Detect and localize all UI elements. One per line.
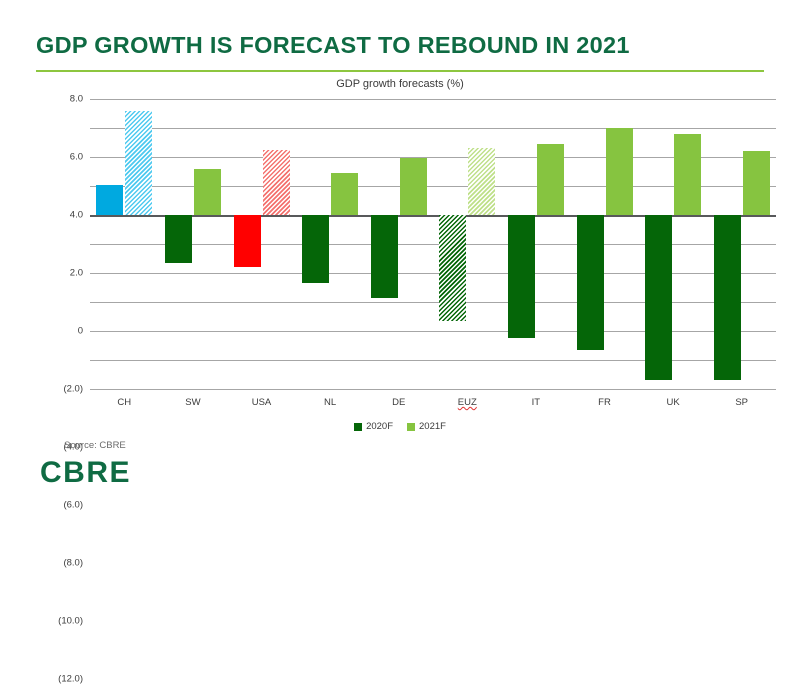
x-axis-tick-label: DE [392,397,405,408]
bar-nl-2021f [331,173,358,215]
gridline: (8.0) [90,331,776,332]
title-divider [36,70,764,72]
bar-fr-2021f [606,128,633,215]
legend-label: 2021F [419,421,446,432]
bar-de-2020f [371,215,398,298]
chart-legend: 2020F2021F [36,421,764,432]
y-axis-tick-label: (2.0) [63,384,83,395]
bar-euz-2020f [439,215,466,321]
bar-euz-2021f [468,148,495,215]
y-axis-tick-label: (10.0) [58,616,83,627]
bar-ch-2020f [96,185,123,215]
x-axis-tick-label: NL [324,397,336,408]
title-block: GDP GROWTH IS FORECAST TO REBOUND IN 202… [36,33,636,59]
y-axis-tick-label: 2.0 [70,268,83,279]
y-axis-tick-label: 0 [78,326,83,337]
bar-sw-2020f [165,215,192,263]
gridline: 4.0 [90,157,776,158]
x-axis-tick-label: FR [598,397,611,408]
slide: GDP GROWTH IS FORECAST TO REBOUND IN 202… [0,0,800,504]
y-axis-tick-label: 8.0 [70,94,83,105]
gridline: 8.0 [90,99,776,100]
x-axis-tick-label: USA [252,397,272,408]
source-note: Source: CBRE [64,440,126,451]
chart-plot-area: 8.06.04.02.00(2.0)(4.0)(6.0)(8.0)(10.0)(… [90,99,776,389]
y-axis-tick-label: (6.0) [63,500,83,511]
chart-title: GDP growth forecasts (%) [36,78,764,90]
gridline: (2.0) [90,244,776,245]
gridline: 2.0 [90,186,776,187]
bar-it-2021f [537,144,564,215]
bar-uk-2020f [645,215,672,380]
x-axis-tick-label: EUZ [458,397,477,408]
gridline: (6.0) [90,302,776,303]
y-axis-tick-label: (8.0) [63,558,83,569]
x-axis-tick-label: UK [666,397,679,408]
gridline: (4.0) [90,273,776,274]
bar-it-2020f [508,215,535,338]
x-axis-tick-label: IT [532,397,540,408]
bar-uk-2021f [674,134,701,215]
gridline: (12.0) [90,389,776,390]
bar-sp-2021f [743,151,770,215]
legend-item-2020f: 2020F [354,421,393,432]
bar-de-2021f [400,158,427,215]
cbre-logo: CBRE [40,458,131,488]
gridline: (10.0) [90,360,776,361]
bar-usa-2021f [263,150,290,215]
legend-item-2021f: 2021F [407,421,446,432]
x-axis-tick-label: SP [735,397,748,408]
bar-fr-2020f [577,215,604,350]
y-axis-tick-label: 4.0 [70,210,83,221]
bar-nl-2020f [302,215,329,283]
y-axis-tick-label: (12.0) [58,674,83,685]
bar-usa-2020f [234,215,261,267]
x-axis-tick-label: CH [117,397,131,408]
bar-ch-2021f [125,111,152,215]
bar-sp-2020f [714,215,741,380]
x-axis-tick-label: SW [185,397,200,408]
legend-swatch-icon [407,423,415,431]
page-title: GDP GROWTH IS FORECAST TO REBOUND IN 202… [36,33,636,59]
chart-container: GDP growth forecasts (%) 8.06.04.02.00(2… [36,76,764,416]
legend-label: 2020F [366,421,393,432]
axis-zero-line: 0 [90,215,776,217]
bar-sw-2021f [194,169,221,215]
gridline: 6.0 [90,128,776,129]
legend-swatch-icon [354,423,362,431]
y-axis-tick-label: 6.0 [70,152,83,163]
